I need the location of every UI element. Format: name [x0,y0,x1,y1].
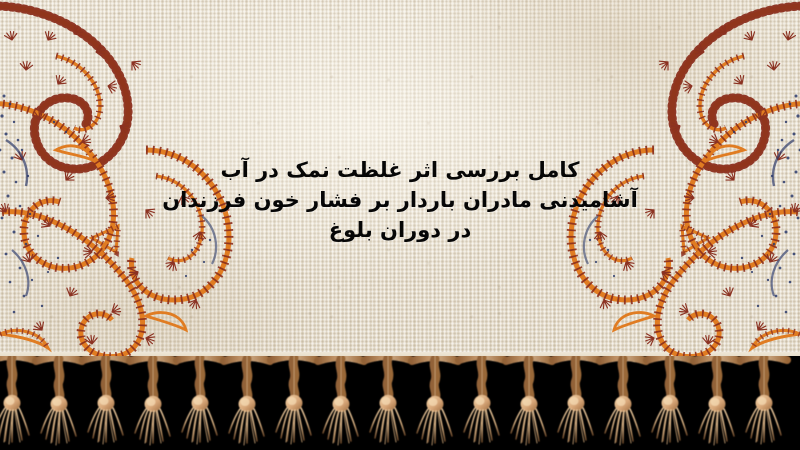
title-card-canvas: کامل بررسی اثر غلظت نمک در آب آشامیدنی م… [0,0,800,450]
tassel-fringe [0,356,800,450]
fabric-background [0,0,800,372]
